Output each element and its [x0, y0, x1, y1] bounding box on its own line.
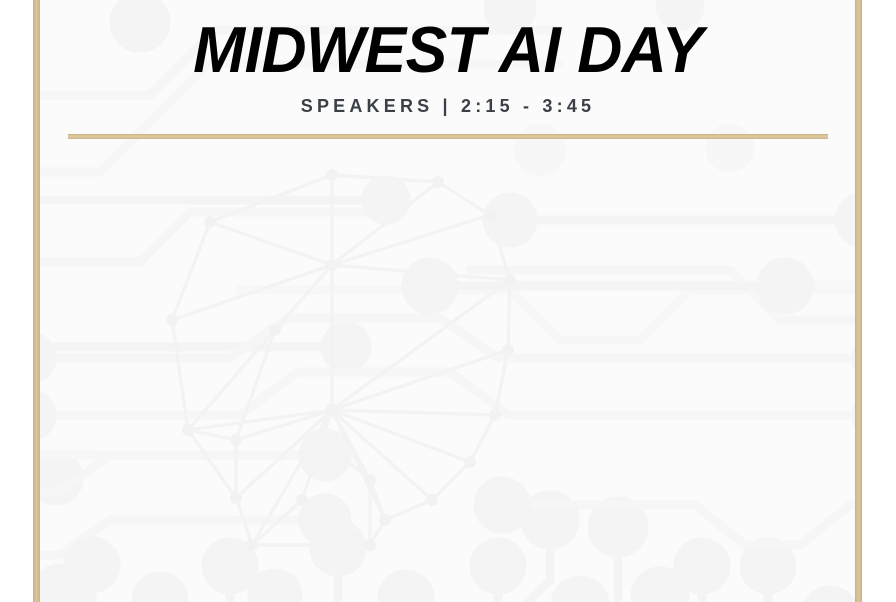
left-gold-rule [33, 0, 40, 602]
gold-divider [68, 134, 828, 139]
page-title: MIDWEST AI DAY [56, 0, 839, 82]
poster-canvas: MIDWEST AI DAY SPEAKERS | 2:15 - 3:45 [0, 0, 896, 602]
poster-header: MIDWEST AI DAY SPEAKERS | 2:15 - 3:45 [40, 0, 856, 139]
right-gold-rule [855, 0, 862, 602]
session-subtitle: SPEAKERS | 2:15 - 3:45 [40, 82, 856, 117]
